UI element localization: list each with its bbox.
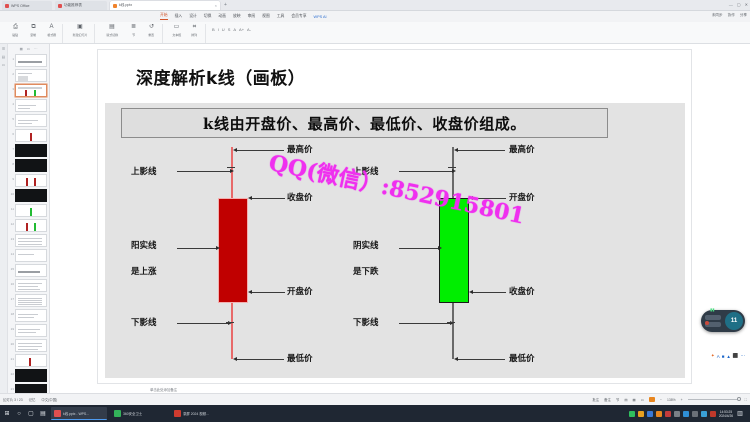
list-item[interactable]: 2 (8, 68, 49, 83)
list-item[interactable]: 18 (8, 308, 49, 323)
slide-number: 4 (10, 99, 14, 106)
italic-icon[interactable]: I (218, 27, 219, 32)
slide-number: 1 (10, 54, 14, 61)
bearish-upper-shadow-tick (448, 167, 456, 168)
ribbon-toolbar: ⎙ 粘贴 ⧉ 复制 A 格式刷 ▣ 新建幻灯片 (0, 22, 750, 44)
window-controls: — ▢ ✕ (729, 2, 748, 7)
taskbar-app-360[interactable]: 360安全卫士 (111, 407, 167, 420)
slide-thumbnail[interactable] (15, 204, 47, 217)
layout-button[interactable]: ▤ 版式切换 (101, 24, 123, 37)
slide-thumbnail-panel[interactable]: ▦ ▭ ⋯ 1 2 3 (8, 44, 50, 393)
ribbon-tab-slideshow[interactable]: 放映 (233, 14, 241, 19)
list-item[interactable]: 8 (8, 158, 49, 173)
ribbon-tab-insert[interactable]: 插入 (175, 14, 183, 19)
reset-icon: ↺ (149, 24, 154, 31)
slide-thumbnail[interactable] (15, 339, 47, 352)
slide-number: 20 (10, 339, 14, 346)
slide-number: 6 (10, 129, 14, 136)
close-window-icon[interactable]: ✕ (745, 2, 748, 7)
taskbar-clock[interactable]: 14:53:25 2024/4/26 (719, 410, 733, 418)
sync-status[interactable]: 未同步 (712, 13, 723, 18)
bullish-low-label: 最低价 (287, 352, 313, 364)
slide-thumbnail[interactable] (15, 219, 47, 232)
app-tab-feature[interactable]: 功能推荐表 (55, 1, 107, 10)
floating-annotation-toolbar[interactable]: ✦ A ■ ▲ ⬛ ⋯ (711, 353, 745, 359)
ribbon-group-font: B I U S A A+ A- (209, 24, 307, 43)
list-item[interactable]: 21 (8, 353, 49, 368)
increase-font-icon[interactable]: A+ (239, 27, 244, 32)
slide-number: 18 (10, 309, 14, 316)
slide-thumbnail[interactable] (15, 294, 47, 307)
bullish-body (218, 198, 248, 303)
recording-dot-icon: ▮▮ (710, 307, 714, 312)
ribbon-tab-animation[interactable]: 动画 (218, 14, 226, 19)
section-button[interactable]: 节 (616, 397, 619, 402)
list-item[interactable]: 1 (8, 53, 49, 68)
doc-icon (58, 4, 62, 8)
app-tab-wps-office[interactable]: WPS Office (2, 1, 52, 10)
slide-canvas-area[interactable]: 深度解析k线（画板） k线由开盘价、最高价、最低价、收盘价组成。 最高价 上影线 (50, 44, 750, 393)
arrow-tool-icon[interactable]: ▲ (726, 354, 730, 359)
button-caption: 排列 (192, 32, 198, 37)
tray-icon-3[interactable] (647, 411, 653, 417)
zoom-in-icon[interactable]: + (681, 398, 683, 402)
text-box-button[interactable]: ▭ 文本框 (169, 24, 184, 37)
list-item[interactable]: 3 (8, 83, 49, 98)
slide-number: 14 (10, 249, 14, 256)
view-normal-icon[interactable]: ▤ (624, 398, 627, 402)
tray-icon-2[interactable] (638, 411, 644, 417)
slide-number: 15 (10, 264, 14, 271)
slide-number: 16 (10, 279, 14, 286)
start-icon[interactable]: ⊞ (3, 410, 11, 418)
collaborate-button[interactable]: 协作 (728, 13, 735, 18)
bold-icon[interactable]: B (212, 27, 215, 32)
bullish-upper-shadow-tick (227, 167, 235, 168)
section-button[interactable]: ≣ 节 (126, 24, 141, 37)
network-icon[interactable] (692, 411, 698, 417)
watermark-text: QQ(微信）:852915801 (266, 145, 528, 230)
tray-icon-1[interactable] (629, 411, 635, 417)
slide-thumbnail[interactable] (15, 279, 47, 292)
windows-taskbar: ⊞ ○ ▢ ▤ k线.pptx - WPS... 360安全卫士 录屏 2024… (0, 405, 750, 422)
button-caption: 节 (132, 32, 135, 37)
maximize-icon[interactable]: ▢ (737, 2, 741, 7)
bullish-body-label: 阳实线 (131, 239, 157, 251)
more-tools-icon[interactable]: ⋯ (741, 353, 746, 359)
bullish-lower-shadow-arrow (177, 323, 229, 324)
bearish-lower-shadow-tick (447, 322, 455, 323)
bearish-low-label: 最低价 (509, 352, 535, 364)
slide-counter: 幻灯片 3 / 23 (3, 397, 23, 402)
bullish-lower-shadow-label: 下影线 (131, 316, 157, 328)
taskbar-app-recorder[interactable]: 录屏 2024 视频... (171, 407, 227, 420)
font-style-icon[interactable]: A (233, 27, 236, 32)
document-tab-strip: WPS Office 功能推荐表 k线.pptx × + — ▢ ✕ (0, 0, 750, 11)
section-icon: ≣ (131, 24, 136, 31)
slide-thumbnail[interactable] (15, 369, 47, 382)
format-painter-button[interactable]: A 格式刷 (44, 24, 59, 37)
bullish-close-arrow (251, 198, 285, 199)
bullish-lower-shadow-tick (226, 322, 234, 323)
bearish-body-arrow (399, 248, 439, 249)
list-item[interactable]: 9 (8, 173, 49, 188)
main-area: ☰ ▤ ▭ ▦ ▭ ⋯ 1 2 (0, 44, 750, 393)
list-item[interactable]: 16 (8, 278, 49, 293)
button-caption: 复制 (31, 32, 37, 37)
notes-placeholder[interactable]: 单击此处添加备注 (150, 387, 177, 392)
outline-view-icon[interactable]: ☰ (2, 47, 5, 51)
memory-status[interactable]: 记忆 (29, 397, 36, 402)
app-tab-kline-pptx[interactable]: k线.pptx × (110, 1, 220, 10)
input-method-icon[interactable] (701, 411, 707, 417)
ribbon-tab-home[interactable]: 开始 (160, 13, 168, 20)
wps-office-window: WPS Office 功能推荐表 k线.pptx × + — ▢ ✕ 开始 插入… (0, 0, 750, 405)
zoom-level[interactable]: 138% (667, 398, 676, 402)
ribbon-tab-member[interactable]: 会员专享 (291, 14, 306, 19)
button-caption: 新建幻灯片 (73, 32, 88, 37)
recorder-bar-top (705, 315, 721, 320)
bearish-body-sublabel: 是下跌 (353, 265, 379, 277)
slide-number: 17 (10, 294, 14, 301)
bearish-close-label: 收盘价 (509, 285, 535, 297)
notify-icon[interactable] (710, 411, 716, 417)
list-item[interactable]: 17 (8, 293, 49, 308)
list-item[interactable]: 10 (8, 188, 49, 203)
language-status[interactable]: 中文(中国) (41, 397, 57, 402)
format-painter-icon: A (49, 24, 53, 31)
search-icon[interactable]: ○ (15, 410, 23, 418)
slide-thumbnail[interactable] (15, 249, 47, 262)
floating-recorder-widget[interactable]: 11 ▮▮ (701, 310, 745, 332)
slide-thumbnail[interactable] (15, 159, 47, 172)
bearish-lower-shadow-label: 下影线 (353, 316, 379, 328)
slide-number: 19 (10, 324, 14, 331)
tray-icon-5[interactable] (665, 411, 671, 417)
button-caption: 重置 (149, 32, 155, 37)
comment-button[interactable]: 批注 (592, 397, 599, 402)
slide-thumbnail[interactable] (15, 189, 47, 202)
kline-figure[interactable]: k线由开盘价、最高价、最低价、收盘价组成。 最高价 上影线 收盘价 (105, 103, 685, 378)
paste-icon: ⎙ (13, 24, 18, 31)
show-desktop-icon[interactable]: ▥ (736, 410, 744, 418)
bullish-low-arrow (236, 359, 284, 360)
list-item[interactable]: 20 (8, 338, 49, 353)
slide-thumbnail[interactable] (15, 234, 47, 247)
new-tab-button[interactable]: + (224, 2, 227, 8)
app-tab-label: k线.pptx (119, 3, 132, 8)
close-icon[interactable]: × (212, 3, 217, 8)
highlighter-icon[interactable]: A (717, 354, 720, 359)
recorder-badge[interactable]: 11 (725, 312, 743, 330)
new-slide-icon: ▣ (77, 24, 83, 31)
slide-number: 3 (10, 84, 14, 91)
arrange-icon: ⌗ (193, 24, 196, 31)
slide-thumbnail[interactable] (15, 174, 47, 187)
list-item[interactable]: 12 (8, 218, 49, 233)
list-item[interactable]: 15 (8, 263, 49, 278)
tray-icon-4[interactable] (656, 411, 662, 417)
taskbar-app-label: 360安全卫士 (123, 411, 142, 416)
more-icon[interactable]: ⋯ (34, 47, 37, 51)
ppt-icon (113, 4, 117, 8)
tray-icon-6[interactable] (674, 411, 680, 417)
slide-thumbnail[interactable] (15, 54, 47, 67)
slide-number: 5 (10, 114, 14, 121)
left-tool-rail: ☰ ▤ ▭ (0, 44, 8, 393)
copy-icon: ⧉ (31, 24, 35, 31)
bearish-upper-shadow-arrow (399, 171, 453, 172)
ribbon-group-insert: ▭ 文本框 ⌗ 排列 (166, 24, 206, 43)
bullish-upper-shadow-label: 上影线 (131, 165, 157, 177)
thumbnail-panel-header: ▦ ▭ ⋯ (8, 46, 49, 53)
slide-number: 22 (10, 369, 14, 376)
bullish-open-arrow (251, 292, 285, 293)
bullish-upper-shadow-arrow (177, 171, 231, 172)
list-item[interactable]: 6 (8, 128, 49, 143)
app-tab-label: 功能推荐表 (64, 3, 82, 8)
security-icon (114, 410, 121, 417)
app-tab-label: WPS Office (11, 4, 30, 8)
status-right: 批注 备注 节 ▤ ▦ ▭ − 138% + ⛶ (592, 397, 747, 402)
reset-button[interactable]: ↺ 重置 (144, 24, 159, 37)
slide-number: 21 (10, 354, 14, 361)
notes-view-icon[interactable]: ▭ (2, 63, 5, 67)
taskbar-app-label: 录屏 2024 视频... (183, 411, 209, 416)
view-reading-icon[interactable]: ▭ (641, 398, 644, 402)
slide-number: 12 (10, 219, 14, 226)
screen: WPS Office 功能推荐表 k线.pptx × + — ▢ ✕ 开始 插入… (0, 0, 750, 422)
arrange-button[interactable]: ⌗ 排列 (187, 24, 202, 37)
slide-number: 11 (10, 204, 14, 211)
slide-thumbnail[interactable] (15, 99, 47, 112)
taskbar-app-label: k线.pptx - WPS... (63, 411, 89, 416)
task-view-icon[interactable]: ▢ (27, 410, 35, 418)
bullish-close-label: 收盘价 (287, 191, 313, 203)
slide-thumbnail-selected[interactable] (15, 84, 47, 97)
slide-number: 23 (10, 384, 14, 391)
ribbon-tab-review[interactable]: 审阅 (248, 14, 256, 19)
share-button[interactable]: 分享 (740, 13, 747, 18)
list-item[interactable]: 7 (8, 143, 49, 158)
ribbon-group-clipboard: ⎙ 粘贴 ⧉ 复制 A 格式刷 (5, 24, 63, 43)
system-tray: 14:53:25 2024/4/26 ▥ (629, 410, 747, 418)
slide-number: 9 (10, 174, 14, 181)
notes-button[interactable]: 备注 (604, 397, 611, 402)
ribbon-tab-view[interactable]: 视图 (262, 14, 270, 19)
slide-thumbnail[interactable] (15, 264, 47, 277)
new-slide-button[interactable]: ▣ 新建幻灯片 (69, 24, 91, 37)
zoom-slider[interactable] (688, 399, 740, 400)
ribbon-group-layout: ▤ 版式切换 ≣ 节 ↺ 重置 (98, 24, 163, 43)
pen-color-icon[interactable]: ✦ (711, 353, 715, 359)
ribbon-tab-wps-ai[interactable]: WPS AI (314, 15, 327, 19)
bullish-body-arrow (177, 248, 217, 249)
text-box-icon: ▭ (174, 24, 180, 31)
ribbon-tab-design[interactable]: 设计 (189, 14, 197, 19)
minimize-icon[interactable]: — (729, 2, 733, 7)
layout-icon: ▤ (109, 24, 115, 31)
button-caption: 粘贴 (13, 32, 19, 37)
slide-thumbnail[interactable] (15, 144, 47, 157)
figure-banner-text: k线由开盘价、最高价、最低价、收盘价组成。 (203, 113, 526, 134)
zoom-out-icon[interactable]: − (660, 398, 662, 402)
folder-icon[interactable]: ▤ (39, 410, 47, 418)
slide-number: 8 (10, 159, 14, 166)
eraser-icon[interactable]: ⬛ (733, 353, 739, 359)
list-item[interactable]: 22 (8, 368, 49, 383)
taskbar-app-wps[interactable]: k线.pptx - WPS... (51, 407, 107, 420)
list-item[interactable]: 13 (8, 233, 49, 248)
list-item[interactable]: 19 (8, 323, 49, 338)
slide-thumbnail[interactable] (15, 69, 47, 82)
zoom-slider-handle[interactable] (737, 397, 741, 401)
slide-thumbnail[interactable] (15, 309, 47, 322)
slide-thumbnail[interactable] (15, 354, 47, 367)
recorder-icon (174, 410, 181, 417)
bearish-low-arrow (457, 359, 505, 360)
slideshow-button[interactable] (649, 397, 655, 402)
ribbon-tab-transition[interactable]: 切换 (204, 14, 212, 19)
grid-view-icon[interactable]: ▦ (20, 47, 23, 51)
outline-icon[interactable]: ▭ (27, 47, 30, 51)
paste-button[interactable]: ⎙ 粘贴 (8, 24, 23, 37)
slide-thumbnail[interactable] (15, 114, 47, 127)
list-item[interactable]: 23 (8, 383, 49, 393)
slides-view-icon[interactable]: ▤ (2, 55, 5, 59)
bearish-high-arrow (457, 150, 505, 151)
button-caption: 文本框 (172, 32, 181, 37)
ribbon-group-slides: ▣ 新建幻灯片 (66, 24, 95, 43)
volume-icon[interactable] (683, 411, 689, 417)
status-bar: 幻灯片 3 / 23 记忆 中文(中国) 批注 备注 节 ▤ ▦ ▭ − 138… (0, 393, 750, 405)
slide-thumbnail[interactable] (15, 129, 47, 142)
bearish-lower-shadow-arrow (399, 323, 451, 324)
fit-slide-icon[interactable]: ⛶ (745, 398, 747, 402)
slide-thumbnail[interactable] (15, 324, 47, 337)
ribbon-tab-tools[interactable]: 工具 (277, 14, 285, 19)
clock-time: 14:53:25 (719, 410, 733, 414)
view-sorter-icon[interactable]: ▦ (633, 398, 636, 402)
font-controls: B I U S A A+ A- (212, 24, 304, 32)
slide-thumbnail[interactable] (15, 384, 47, 393)
bearish-high-label: 最高价 (509, 143, 535, 155)
slide-number: 10 (10, 189, 14, 196)
list-item[interactable]: 5 (8, 113, 49, 128)
button-caption: 格式刷 (47, 32, 56, 37)
slide-number: 7 (10, 144, 14, 151)
decrease-font-icon[interactable]: A- (247, 27, 251, 32)
figure-banner: k线由开盘价、最高价、最低价、收盘价组成。 (121, 108, 608, 138)
bearish-close-arrow (472, 292, 506, 293)
slide-number: 2 (10, 69, 14, 76)
underline-icon[interactable]: U (222, 27, 225, 32)
button-caption: 版式切换 (106, 32, 118, 37)
wps-icon (5, 4, 9, 8)
bullish-body-sublabel: 是上涨 (131, 265, 157, 277)
bullish-open-label: 开盘价 (287, 285, 313, 297)
copy-button[interactable]: ⧉ 复制 (26, 24, 41, 37)
ribbon-tab-bar: 开始 插入 设计 切换 动画 放映 审阅 视图 工具 会员专享 WPS AI 未… (0, 11, 750, 22)
list-item[interactable]: 4 (8, 98, 49, 113)
slide-number: 13 (10, 234, 14, 241)
page-title[interactable]: 深度解析k线（画板） (136, 64, 305, 89)
list-item[interactable]: 11 (8, 203, 49, 218)
strikethrough-icon[interactable]: S (228, 27, 231, 32)
clock-date: 2024/4/26 (719, 414, 733, 418)
slide-canvas[interactable]: 深度解析k线（画板） k线由开盘价、最高价、最低价、收盘价组成。 最高价 上影线 (97, 49, 692, 384)
list-item[interactable]: 14 (8, 248, 49, 263)
ribbon-right-actions: 未同步 协作 分享 (712, 13, 747, 18)
wps-taskbar-icon (54, 410, 61, 417)
shape-icon[interactable]: ■ (722, 354, 725, 359)
stop-record-icon[interactable] (705, 321, 709, 325)
bearish-body-label: 阴实线 (353, 239, 379, 251)
